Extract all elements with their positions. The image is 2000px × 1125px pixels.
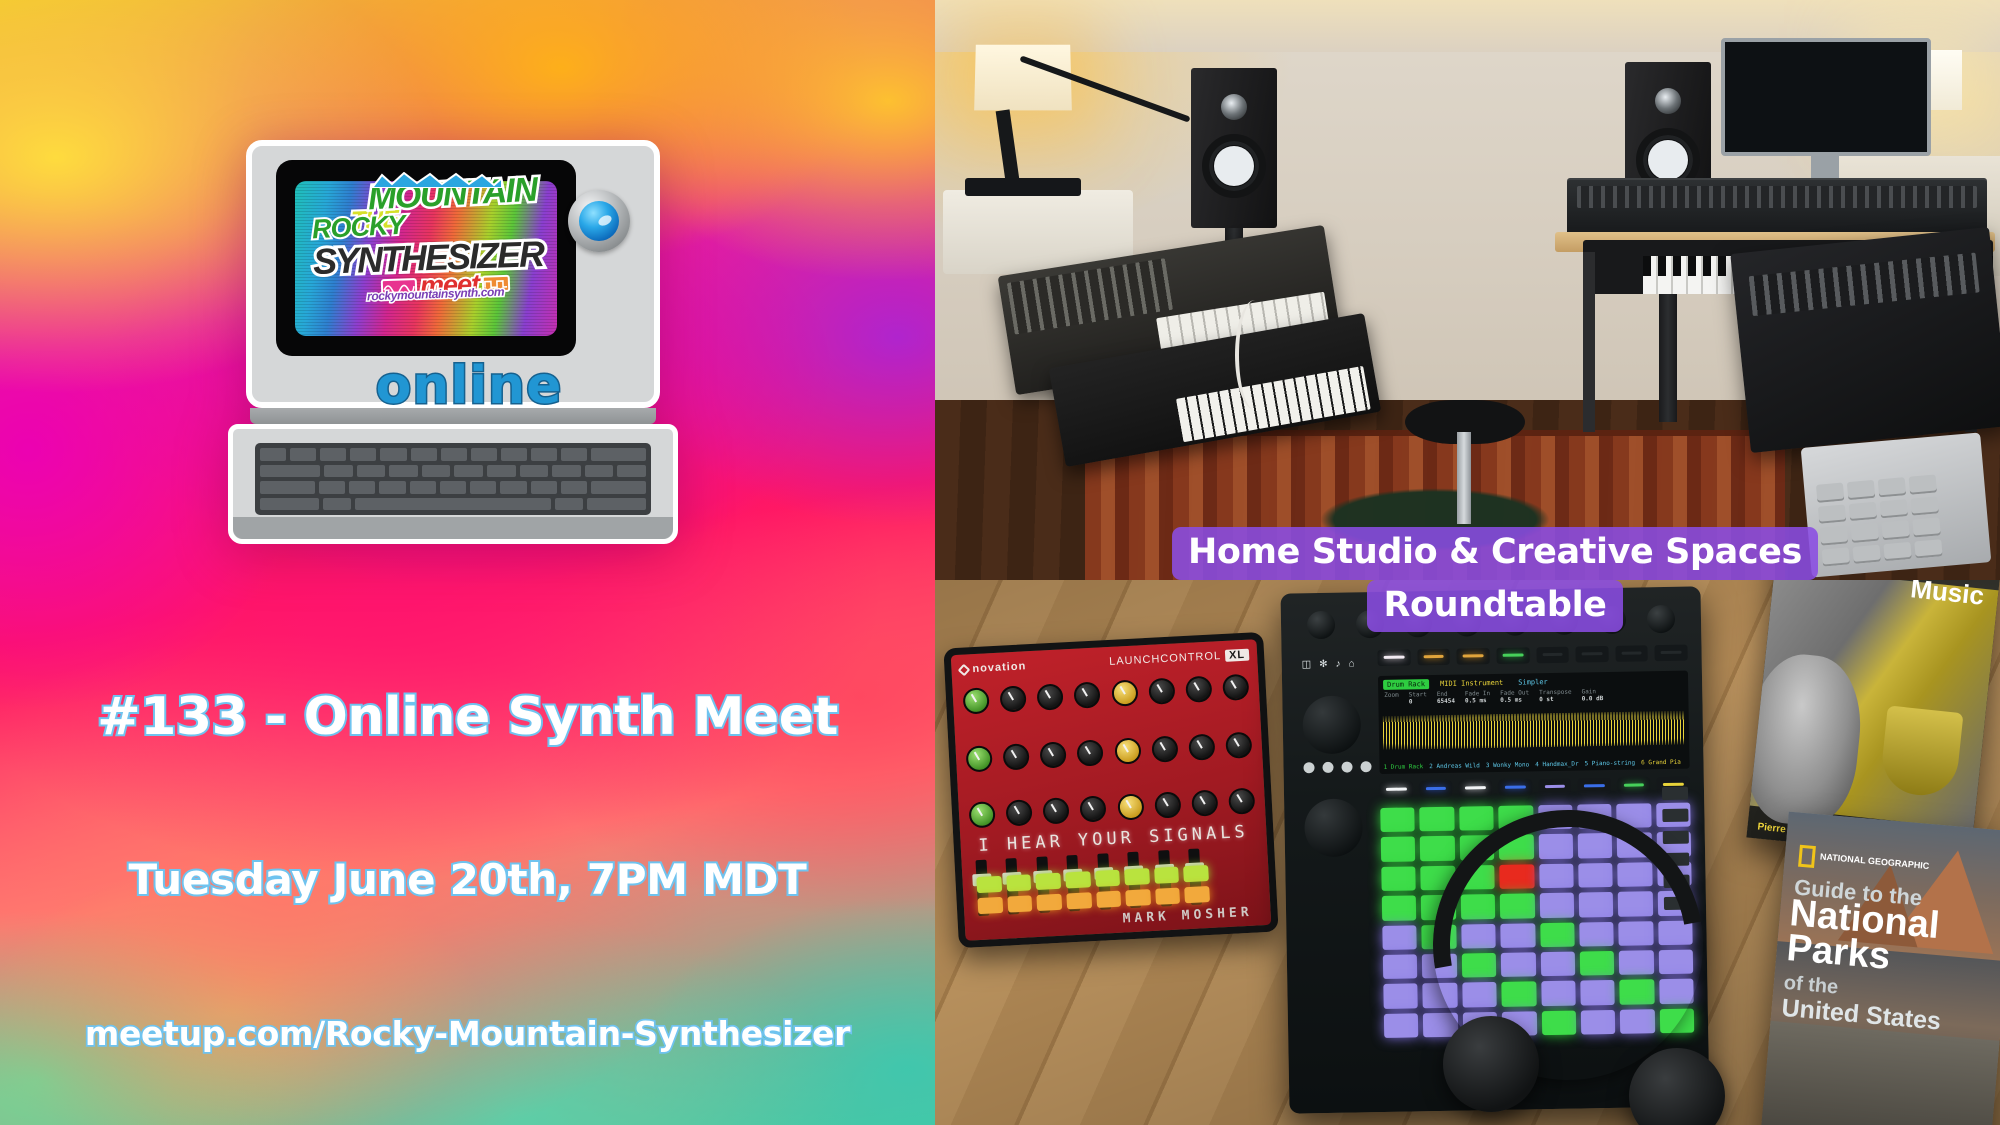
pad[interactable] [1183, 865, 1208, 882]
strip-button[interactable] [1578, 778, 1611, 795]
desk-leg [1583, 252, 1595, 432]
metronome-icon[interactable] [1360, 761, 1371, 772]
strip-button[interactable] [1457, 648, 1490, 665]
strip-button[interactable] [1499, 779, 1532, 796]
owner-name-label: MARK MOSHER [1122, 905, 1253, 927]
drum-pad [1816, 483, 1844, 503]
user-icon[interactable]: ⌂ [1348, 658, 1354, 669]
event-datetime: Tuesday June 20th, 7PM MDT [0, 855, 935, 904]
key [501, 448, 527, 461]
key [561, 481, 587, 494]
push-pad[interactable] [1383, 954, 1418, 979]
keyboard-row [260, 448, 646, 461]
push-pad[interactable] [1381, 866, 1416, 891]
right-photo-panel: novation LAUNCHCONTROL XL [935, 0, 2000, 1125]
strip-button[interactable] [1615, 645, 1648, 662]
drum-pad [1910, 496, 1938, 516]
record-icon[interactable] [1303, 762, 1314, 773]
pad[interactable] [1125, 889, 1150, 906]
logo-rocky: ROCKY [311, 214, 405, 242]
key [471, 448, 497, 461]
launch-control-brand-bar: novation LAUNCHCONTROL XL [959, 646, 1250, 679]
event-poster: THE ROCKY MOUNTAIN SYNTHESIZER meet [0, 0, 2000, 1125]
banner-line-2: Roundtable [1367, 580, 1622, 633]
river-graphic [1760, 1021, 2000, 1125]
camera-lens-icon [568, 190, 630, 252]
drum-pad [1881, 520, 1909, 540]
desk-lamp-shade-left [974, 45, 1072, 111]
knob[interactable] [1225, 732, 1252, 759]
knob[interactable] [962, 687, 989, 714]
key [561, 448, 587, 461]
novation-launch-control-xl: novation LAUNCHCONTROL XL [943, 632, 1278, 948]
laptop-hinge [250, 408, 656, 424]
key [454, 465, 483, 478]
display-param: End65454 [1437, 691, 1455, 705]
logo-website-url: rockymountainsynth.com [367, 285, 505, 304]
ng-wordmark: NATIONAL GEOGRAPHIC [1820, 853, 1930, 872]
drum-pad [1880, 499, 1908, 519]
knob[interactable] [1037, 683, 1064, 710]
strip-button[interactable] [1377, 649, 1410, 666]
event-title: #133 - Online Synth Meet [0, 687, 935, 747]
model-text: LAUNCHCONTROL [1109, 650, 1221, 668]
laptop-lid: THE ROCKY MOUNTAIN SYNTHESIZER meet [246, 140, 660, 408]
stop-icon[interactable] [1341, 761, 1352, 772]
strip-button[interactable] [1576, 646, 1609, 663]
launch-control-signal-label: I HEAR YOUR SIGNALS [974, 822, 1253, 857]
key [470, 481, 496, 494]
key [323, 498, 351, 511]
strip-button[interactable] [1380, 781, 1413, 798]
laptop-screen-bezel: THE ROCKY MOUNTAIN SYNTHESIZER meet [276, 160, 576, 356]
knob-row-3 [968, 788, 1255, 829]
mountain-peaks-icon [372, 172, 502, 188]
knob[interactable] [1003, 743, 1030, 770]
speaker-cable [1235, 300, 1275, 410]
pad[interactable] [1066, 892, 1091, 909]
strip-button[interactable] [1536, 647, 1569, 664]
key [260, 481, 315, 494]
variant-badge: XL [1225, 649, 1250, 662]
key [379, 481, 405, 494]
novation-mark-icon [958, 663, 971, 676]
laptop-base [228, 424, 678, 544]
pad[interactable] [1095, 870, 1120, 887]
pad[interactable] [976, 876, 1001, 893]
pad[interactable] [1124, 868, 1149, 885]
laptop-keyboard [255, 443, 651, 515]
strip-button[interactable] [1618, 777, 1651, 794]
knob[interactable] [1040, 741, 1067, 768]
push-mode-icons: ◫ ✻ ♪ ⌂ [1302, 658, 1370, 670]
drum-pad [1878, 477, 1906, 497]
display-param: Zoom [1384, 692, 1399, 706]
audio-waveform [1383, 711, 1686, 750]
display-param: Gain0.0 dB [1581, 688, 1603, 702]
key [260, 465, 320, 478]
push-left-controls: ◫ ✻ ♪ ⌂ [1296, 650, 1378, 1103]
strip-button[interactable] [1538, 779, 1571, 796]
rocky-mountain-synth-logo: THE ROCKY MOUNTAIN SYNTHESIZER meet [276, 160, 576, 356]
key [410, 481, 436, 494]
left-gradient-panel: THE ROCKY MOUNTAIN SYNTHESIZER meet [0, 0, 935, 1125]
display-param: Fade Out0.5 ms [1500, 689, 1529, 704]
key [422, 465, 451, 478]
knob[interactable] [1111, 679, 1138, 706]
track-tab[interactable]: 2 Andreas Wild [1429, 762, 1480, 770]
online-wordmark: online [304, 360, 634, 412]
key [389, 465, 418, 478]
pad[interactable] [1154, 867, 1179, 884]
pad[interactable] [1036, 873, 1061, 890]
parks-word-parks: Parks [1785, 927, 1892, 978]
studio-headphones [1433, 810, 1733, 1110]
strip-button[interactable] [1496, 647, 1529, 664]
knob[interactable] [1148, 678, 1175, 705]
push-pad[interactable] [1383, 984, 1418, 1009]
display-track-tabs: 1 Drum Rack 2 Andreas Wild 3 Wonky Mono … [1383, 759, 1685, 771]
controller-desk-photo: novation LAUNCHCONTROL XL [935, 580, 2000, 1125]
spacebar-key [355, 498, 551, 511]
session-title-banner: Home Studio & Creative Spaces Roundtable [1115, 527, 1875, 632]
schaeffer-portrait [1746, 650, 1867, 831]
track-tab[interactable]: 5 Piano-string [1584, 760, 1635, 768]
keyboard-row [260, 498, 646, 511]
pad[interactable] [1037, 894, 1062, 911]
key [320, 448, 346, 461]
knob[interactable] [1222, 674, 1249, 701]
parks-line-national-parks: National Parks [1785, 896, 1940, 979]
drum-pad [1818, 504, 1846, 524]
drum-pad [1914, 539, 1942, 559]
novation-brand-text: novation [972, 660, 1026, 675]
key [324, 465, 353, 478]
tweeter [1655, 88, 1681, 114]
stool-post [1457, 432, 1471, 524]
push-lcd-display: Drum Rack MIDI Instrument Simpler Zoom S… [1378, 671, 1690, 774]
knob[interactable] [1080, 795, 1107, 822]
key [380, 448, 406, 461]
knob[interactable] [1151, 735, 1178, 762]
track-tab[interactable]: 3 Wonky Mono [1486, 761, 1529, 769]
headphone-earcup [1443, 1016, 1539, 1112]
pad[interactable] [1155, 888, 1180, 905]
gear-desk-right [1730, 227, 2000, 453]
key [290, 448, 316, 461]
display-tag: MIDI Instrument [1436, 678, 1507, 689]
note-icon[interactable]: ♪ [1335, 659, 1340, 670]
woofer [1202, 134, 1266, 198]
key [500, 481, 526, 494]
computer-monitor [1721, 38, 1931, 156]
pad[interactable] [1006, 874, 1031, 891]
play-icon[interactable] [1322, 762, 1333, 773]
tweeter [1221, 94, 1247, 120]
key [440, 481, 466, 494]
device-icon[interactable]: ◫ [1302, 659, 1312, 670]
key [411, 448, 437, 461]
knob[interactable] [1006, 799, 1033, 826]
pad[interactable] [1065, 871, 1090, 888]
lens-glint [597, 213, 614, 228]
key [617, 465, 646, 478]
knob[interactable] [968, 801, 995, 828]
laptop-base-lip [233, 517, 673, 539]
strip-button[interactable] [1655, 645, 1688, 662]
push-pad[interactable] [1381, 837, 1416, 862]
push-lower-button-strip [1380, 777, 1690, 798]
drum-pad [1909, 474, 1937, 494]
drum-pad [1912, 517, 1940, 537]
launch-control-model: LAUNCHCONTROL XL [1109, 649, 1250, 668]
track-tab[interactable]: 6 Grand Pia [1641, 759, 1681, 767]
knob[interactable] [1154, 791, 1181, 818]
key [555, 498, 583, 511]
ng-yellow-rectangle-icon [1798, 845, 1816, 868]
home-studio-photo [935, 0, 2000, 580]
strip-button[interactable] [1417, 649, 1450, 666]
key [350, 448, 376, 461]
drum-pad [1883, 541, 1911, 561]
key [357, 465, 386, 478]
push-master-encoder[interactable] [1302, 695, 1361, 754]
keyboard-row [260, 481, 646, 494]
knob[interactable] [1114, 737, 1141, 764]
knob[interactable] [1043, 797, 1070, 824]
knob[interactable] [1191, 789, 1218, 816]
push-pad[interactable] [1380, 807, 1415, 832]
key [520, 465, 549, 478]
camera-lens-inner [579, 201, 619, 241]
keyboard-row [260, 465, 646, 478]
drum-pad [1849, 501, 1877, 521]
knob[interactable] [1074, 681, 1101, 708]
key [349, 481, 375, 494]
key [319, 481, 345, 494]
knob-row-2 [966, 732, 1253, 773]
retro-laptop-illustration: THE ROCKY MOUNTAIN SYNTHESIZER meet [228, 140, 678, 560]
banner-line-1: Home Studio & Creative Spaces [1172, 527, 1818, 580]
pad[interactable] [977, 897, 1002, 914]
knob[interactable] [1185, 676, 1212, 703]
display-param: Fade In0.5 ms [1465, 690, 1491, 704]
key [585, 465, 614, 478]
key [591, 448, 646, 461]
knob[interactable] [1117, 793, 1144, 820]
knob[interactable] [1077, 739, 1104, 766]
push-transport-icons [1303, 761, 1371, 773]
display-tag: Drum Rack [1383, 679, 1429, 690]
strip-button[interactable] [1419, 781, 1452, 798]
key [587, 498, 646, 511]
knob[interactable] [1000, 685, 1027, 712]
track-tab[interactable]: 4 Handmax_Dr [1535, 761, 1578, 769]
display-param: Transpose0 st [1539, 689, 1572, 704]
desktop-synth-modules [1567, 178, 1987, 236]
push-pad[interactable] [1382, 896, 1417, 921]
pad[interactable] [1096, 891, 1121, 908]
lamp-base-left [965, 178, 1081, 196]
knob[interactable] [1188, 734, 1215, 761]
event-meetup-url: meetup.com/Rocky-Mountain-Synthesizer [0, 1014, 935, 1053]
key [531, 448, 557, 461]
key [487, 465, 516, 478]
display-tag: Simpler [1514, 677, 1552, 688]
settings-gear-icon[interactable]: ✻ [1319, 659, 1328, 670]
push-pad[interactable] [1382, 925, 1417, 950]
track-tab[interactable]: 1 Drum Rack [1383, 763, 1423, 771]
key [441, 448, 467, 461]
knob-row-1 [962, 674, 1249, 715]
pad[interactable] [1007, 895, 1032, 912]
drum-pad [1847, 480, 1875, 500]
strip-button[interactable] [1459, 780, 1492, 797]
book-national-parks-guide: NATIONAL GEOGRAPHIC Guide to the Nationa… [1760, 812, 2000, 1125]
knob[interactable] [1228, 788, 1255, 815]
key [531, 481, 557, 494]
key [591, 481, 646, 494]
key [260, 498, 319, 511]
key [260, 448, 286, 461]
push-upper-button-strip [1377, 645, 1687, 666]
pad[interactable] [1185, 886, 1210, 903]
push-side-button[interactable] [1662, 787, 1688, 800]
studio-monitor-speaker-left [1191, 68, 1277, 228]
push-tempo-encoder[interactable] [1304, 798, 1363, 857]
push-pad[interactable] [1384, 1013, 1419, 1038]
novation-logo: novation [959, 660, 1026, 675]
key [552, 465, 581, 478]
knob[interactable] [966, 745, 993, 772]
yellow-glass-graphic [1879, 705, 1964, 798]
display-param: Start0 [1409, 691, 1427, 705]
